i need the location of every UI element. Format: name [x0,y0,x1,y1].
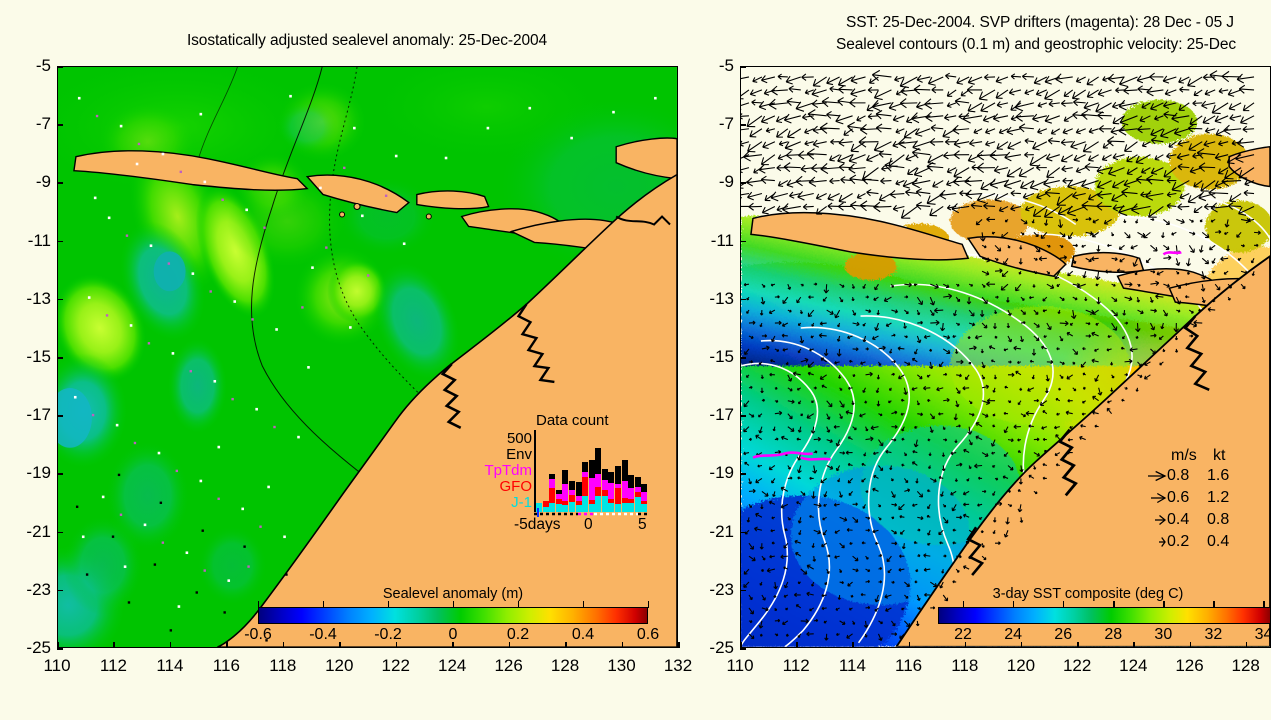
y-tick [740,241,746,243]
y-tick-label: -7 [13,114,51,134]
colorbar-tick [1113,601,1114,608]
y-tick [57,532,63,534]
x-tick-label: 132 [664,656,692,676]
bar-segment-j-1 [562,505,568,512]
y-tick [57,648,63,650]
bar-segment-env [562,470,568,484]
x-tick-label: 122 [1063,656,1091,676]
colorbar-tick-label: 30 [1154,626,1172,644]
y-tick [57,415,63,417]
y-tick [740,648,746,650]
y-tick [740,473,746,475]
data-count-bar [576,482,582,512]
data-count-bars [536,430,648,512]
data-count-bar [608,472,614,512]
data-count-bar [562,470,568,512]
y-tick [740,124,746,126]
velocity-key-ms: 0.4 [1167,511,1207,529]
y-tick-label: -11 [696,231,734,251]
y-tick-label: -25 [696,638,734,658]
x-tick-label: 124 [438,656,466,676]
velocity-key-row: 0.81.6 [1131,467,1247,485]
bar-segment-j-1 [556,504,562,512]
y-tick-label: -13 [696,289,734,309]
bar-segment-j-1 [615,504,621,512]
colorbar-tick [453,601,454,608]
bar-segment-j-1 [628,503,634,512]
bar-segment-tptdm [641,492,647,501]
velocity-key-header-ms: m/s [1171,447,1197,465]
y-tick-label: -5 [696,56,734,76]
x-tick-label: 120 [1007,656,1035,676]
colorbar-tick-label: 0.6 [637,626,659,644]
bar-segment-tptdm [608,483,614,499]
bar-segment-env [628,475,634,488]
bar-segment-gfo [595,487,601,497]
bar-segment-j-1 [641,504,647,512]
sst-colorbar-title: 3-day SST composite (deg C) [993,586,1184,602]
sst-colorbar: 3-day SST composite (deg C) 222426283032… [938,586,1271,646]
x-tick-label: 128 [1232,656,1260,676]
bar-segment-tptdm [562,484,568,500]
colorbar-tick [963,601,964,608]
x-tick-label: 116 [895,656,922,676]
bar-segment-env [622,460,628,481]
data-count-bar [549,474,555,512]
colorbar-tick [518,601,519,608]
colorbar-tick-label: 24 [1004,626,1022,644]
velocity-arrow-icon [1131,491,1167,505]
bar-segment-tptdm [602,480,608,490]
right-panel-title-line2: Sealevel contours (0.1 m) and geostrophi… [836,36,1236,54]
y-tick-label: -19 [696,463,734,483]
velocity-key-row: 0.40.8 [1131,511,1247,529]
velocity-key: m/s kt 0.81.60.61.20.40.80.20.4 [1131,447,1271,557]
colorbar-tick-label: 0.2 [507,626,529,644]
y-tick-label: -11 [13,231,51,251]
velocity-arrow-icon [1131,513,1167,527]
bar-segment-env [589,460,595,478]
x-tick-label: 114 [156,656,183,676]
data-count-bar [635,477,641,512]
bar-segment-env [582,462,588,472]
bar-segment-j-1 [589,504,595,512]
x-tick [226,642,228,648]
bar-segment-env [595,448,601,474]
sealevel-anomaly-map[interactable]: Data count 500 Env TpTdm GFO J-1 -5days … [57,66,678,648]
left-panel-title: Isostatically adjusted sealevel anomaly:… [187,32,547,50]
velocity-arrow-icon [1131,535,1167,549]
y-tick-label: -5 [13,56,51,76]
sst-velocity-map[interactable]: m/s kt 0.81.60.61.20.40.80.20.4 [740,66,1271,648]
bar-segment-gfo [549,488,555,504]
y-tick [57,299,63,301]
data-count-inset: Data count 500 Env TpTdm GFO J-1 -5days … [478,412,658,537]
colorbar-tick-label: 34 [1255,626,1271,644]
data-count-bar [641,484,647,512]
y-tick [57,241,63,243]
sealevel-colorbar: Sealevel anomaly (m) -0.6-0.4-0.200.20.4… [258,586,648,646]
x-tick-label: 112 [100,656,127,676]
y-tick [57,473,63,475]
y-tick-label: -21 [13,522,51,542]
bar-segment-j-1 [622,503,628,513]
bar-segment-env [635,477,641,487]
bar-segment-env [641,484,647,492]
colorbar-tick [388,601,389,608]
y-tick-label: -9 [696,172,734,192]
velocity-key-kt: 1.2 [1207,489,1247,507]
data-count-bar [595,448,601,512]
data-count-bar [622,460,628,512]
x-tick [796,642,798,648]
y-tick-label: -15 [696,347,734,367]
sst-field [741,67,1270,647]
velocity-arrow-icon [1131,469,1167,483]
y-tick [740,66,746,68]
colorbar-tick [258,601,259,608]
bar-segment-tptdm [595,474,601,486]
x-tick-label: 124 [1119,656,1147,676]
y-tick [57,357,63,359]
colorbar-tick-label: 22 [954,626,972,644]
x-tick-label: 126 [494,656,522,676]
legend-j1: J-1 [470,495,532,512]
x-tick [852,642,854,648]
data-count-xlabel-zero: 0 [584,516,593,534]
data-count-bar [628,475,634,512]
bar-segment-gfo [615,488,621,504]
y-tick [740,299,746,301]
colorbar-tick-label: 0.4 [572,626,594,644]
bar-segment-j-1 [582,496,588,512]
data-count-xlabel-left: -5days [514,516,561,534]
velocity-key-row: 0.20.4 [1131,533,1247,551]
y-tick-label: -19 [13,463,51,483]
y-tick [57,590,63,592]
data-count-bar [543,501,549,512]
x-tick-label: 112 [783,656,810,676]
colorbar-tick-label: 32 [1205,626,1223,644]
sst-colorbar-gradient [938,607,1271,624]
y-tick-label: -9 [13,172,51,192]
bar-segment-gfo [582,477,588,497]
colorbar-tick [1213,601,1214,608]
colorbar-tick-label: -0.4 [309,626,337,644]
data-count-bar [582,462,588,512]
colorbar-tick-label: -0.2 [374,626,402,644]
data-count-bar [615,466,621,512]
colorbar-tick [648,601,649,608]
right-panel-title-line1: SST: 25-Dec-2004. SVP drifters (magenta)… [846,14,1234,32]
bar-segment-tptdm [628,488,634,499]
velocity-key-kt: 1.6 [1207,467,1247,485]
bar-segment-env [576,482,582,497]
colorbar-tick-label: 0 [449,626,458,644]
y-tick-label: -23 [696,580,734,600]
colorbar-tick [1263,601,1264,608]
x-tick [170,642,172,648]
y-tick-label: -17 [696,405,734,425]
x-tick-label: 114 [839,656,866,676]
colorbar-tick-label: 28 [1104,626,1122,644]
y-tick [740,182,746,184]
data-count-bar [569,481,575,512]
x-tick [909,642,911,648]
bar-segment-tptdm [589,478,595,499]
x-tick-label: 126 [1175,656,1203,676]
y-tick [57,182,63,184]
x-tick-label: 118 [951,656,978,676]
y-tick [57,66,63,68]
sealevel-colorbar-gradient [258,607,648,624]
bar-segment-j-1 [602,496,608,512]
x-tick-label: 118 [269,656,296,676]
data-count-bar [556,490,562,512]
y-tick-label: -13 [13,289,51,309]
data-count-xlabel-right: 5 [638,516,647,534]
data-count-bar [602,469,608,512]
y-tick-label: -21 [696,522,734,542]
velocity-key-row: 0.61.2 [1131,489,1247,507]
data-count-bar [589,460,595,512]
sealevel-anomaly-field [58,67,677,647]
bar-segment-j-1 [608,503,614,512]
data-count-x-axis [534,512,650,514]
x-tick-label: 128 [551,656,579,676]
x-tick-label: 122 [382,656,410,676]
y-tick [740,532,746,534]
bar-segment-j-1 [549,503,555,512]
bar-segment-j-1 [569,502,575,512]
colorbar-tick-label: -0.6 [244,626,272,644]
velocity-key-kt: 0.8 [1207,511,1247,529]
velocity-key-ms: 0.6 [1167,489,1207,507]
y-tick-label: -15 [13,347,51,367]
bar-segment-env [569,481,575,490]
x-tick-label: 130 [607,656,635,676]
velocity-key-ms: 0.2 [1167,533,1207,551]
y-tick-label: -23 [13,580,51,600]
y-tick [57,124,63,126]
velocity-key-kt: 0.4 [1207,533,1247,551]
x-tick [678,642,680,648]
x-tick-label: 116 [213,656,240,676]
bar-segment-j-1 [595,496,601,512]
colorbar-tick [1013,601,1014,608]
y-tick-label: -25 [13,638,51,658]
colorbar-tick-label: 26 [1054,626,1072,644]
velocity-key-header-kt: kt [1213,447,1225,465]
x-tick [113,642,115,648]
bar-segment-tptdm [549,479,555,488]
velocity-key-ms: 0.8 [1167,467,1207,485]
y-tick [740,590,746,592]
x-tick-label: 120 [325,656,353,676]
x-tick-label: 110 [43,656,70,676]
x-tick-label: 110 [726,656,753,676]
bar-segment-j-1 [635,497,641,512]
colorbar-tick [1063,601,1064,608]
bar-segment-env [602,469,608,480]
y-tick [740,357,746,359]
sealevel-colorbar-title: Sealevel anomaly (m) [383,586,523,602]
y-tick-label: -17 [13,405,51,425]
y-tick [740,415,746,417]
bar-segment-env [615,466,621,484]
data-count-title: Data count [536,412,609,429]
bar-segment-tptdm [622,481,628,497]
colorbar-tick [583,601,584,608]
y-tick-label: -7 [696,114,734,134]
colorbar-tick [1163,601,1164,608]
bar-segment-env [608,472,614,483]
colorbar-tick [323,601,324,608]
